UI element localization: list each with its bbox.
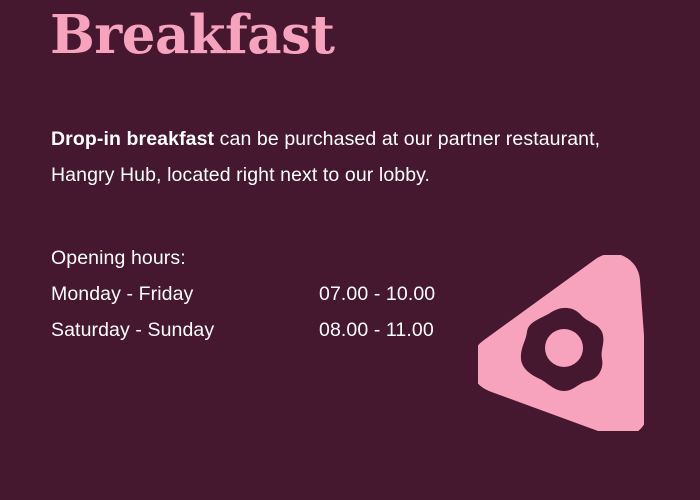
fried-egg-triangle-icon [478, 255, 644, 431]
opening-hours-row: Saturday - Sunday08.00 - 11.00 [51, 312, 435, 348]
intro-paragraph: Drop-in breakfast can be purchased at ou… [51, 121, 651, 193]
intro-lead-text: Drop-in breakfast [51, 128, 214, 150]
page-title: Breakfast [50, 2, 334, 68]
opening-hours-time: 07.00 - 10.00 [319, 276, 435, 312]
opening-hours-block: Opening hours: Monday - Friday07.00 - 10… [51, 240, 435, 348]
opening-hours-days: Monday - Friday [51, 276, 319, 312]
opening-hours-row: Monday - Friday07.00 - 10.00 [51, 276, 435, 312]
opening-hours-time: 08.00 - 11.00 [319, 312, 434, 348]
clipped-bottom-text [51, 493, 651, 500]
opening-hours-label: Opening hours: [51, 240, 435, 276]
breakfast-info-panel: Breakfast Drop-in breakfast can be purch… [0, 0, 700, 500]
opening-hours-days: Saturday - Sunday [51, 312, 319, 348]
